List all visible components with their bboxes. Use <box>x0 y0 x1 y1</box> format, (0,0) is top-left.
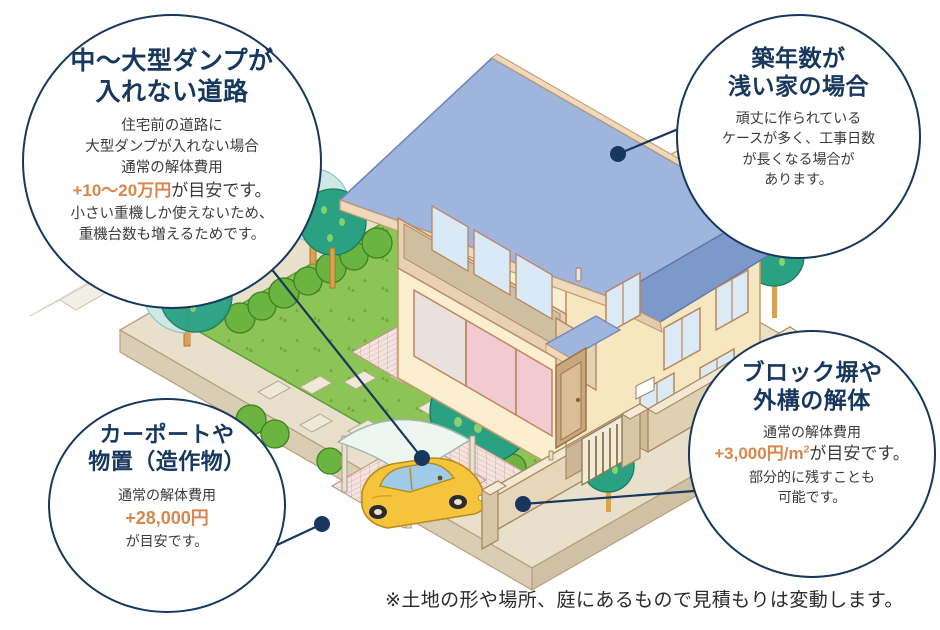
bubble-carport-price: +28,000円 <box>125 508 209 528</box>
road-dot <box>314 516 330 532</box>
bubble-wall-price: +3,000円/m <box>714 444 803 463</box>
footnote: ※土地の形や場所、庭にあるもので見積もりは変動します。 <box>385 585 930 612</box>
infographic-canvas: 中〜大型ダンプが 入れない道路 住宅前の道路に 大型ダンプが入れない場合 通常の… <box>0 0 940 630</box>
bubble-road-body: 住宅前の道路に 大型ダンプが入れない場合 通常の解体費用 +10〜20万円が目安… <box>71 116 274 246</box>
front-door <box>556 348 586 448</box>
bubble-age-body: 頑丈に作られている ケースが多く、工事日数 が長くなる場合が あります。 <box>722 108 875 189</box>
roof-dot <box>610 146 626 162</box>
bubble-age-title: 築年数が 浅い家の場合 <box>728 44 869 100</box>
bubble-road-title: 中〜大型ダンプが 入れない道路 <box>70 46 273 107</box>
block-wall-dot <box>515 496 531 512</box>
bubble-wall[interactable]: ブロック塀や 外構の解体 通常の解体費用 +3,000円/m2が目安です。 部分… <box>688 330 936 578</box>
bubble-age[interactable]: 築年数が 浅い家の場合 頑丈に作られている ケースが多く、工事日数 が長くなる場… <box>676 14 921 259</box>
bubble-carport-title: カーポートや 物置（造作物） <box>88 422 246 476</box>
bubble-carport[interactable]: カーポートや 物置（造作物） 通常の解体費用 +28,000円 が目安です。 <box>48 398 286 613</box>
bubble-wall-body: 通常の解体費用 +3,000円/m2が目安です。 部分的に残すことも 可能です。 <box>714 422 909 508</box>
bubble-road[interactable]: 中〜大型ダンプが 入れない道路 住宅前の道路に 大型ダンプが入れない場合 通常の… <box>22 14 322 309</box>
bubble-carport-body: 通常の解体費用 +28,000円 が目安です。 <box>118 485 216 552</box>
bubble-road-price: +10〜20万円 <box>72 181 171 200</box>
carport-dot <box>414 450 430 466</box>
bubble-wall-title: ブロック塀や 外構の解体 <box>742 358 883 414</box>
